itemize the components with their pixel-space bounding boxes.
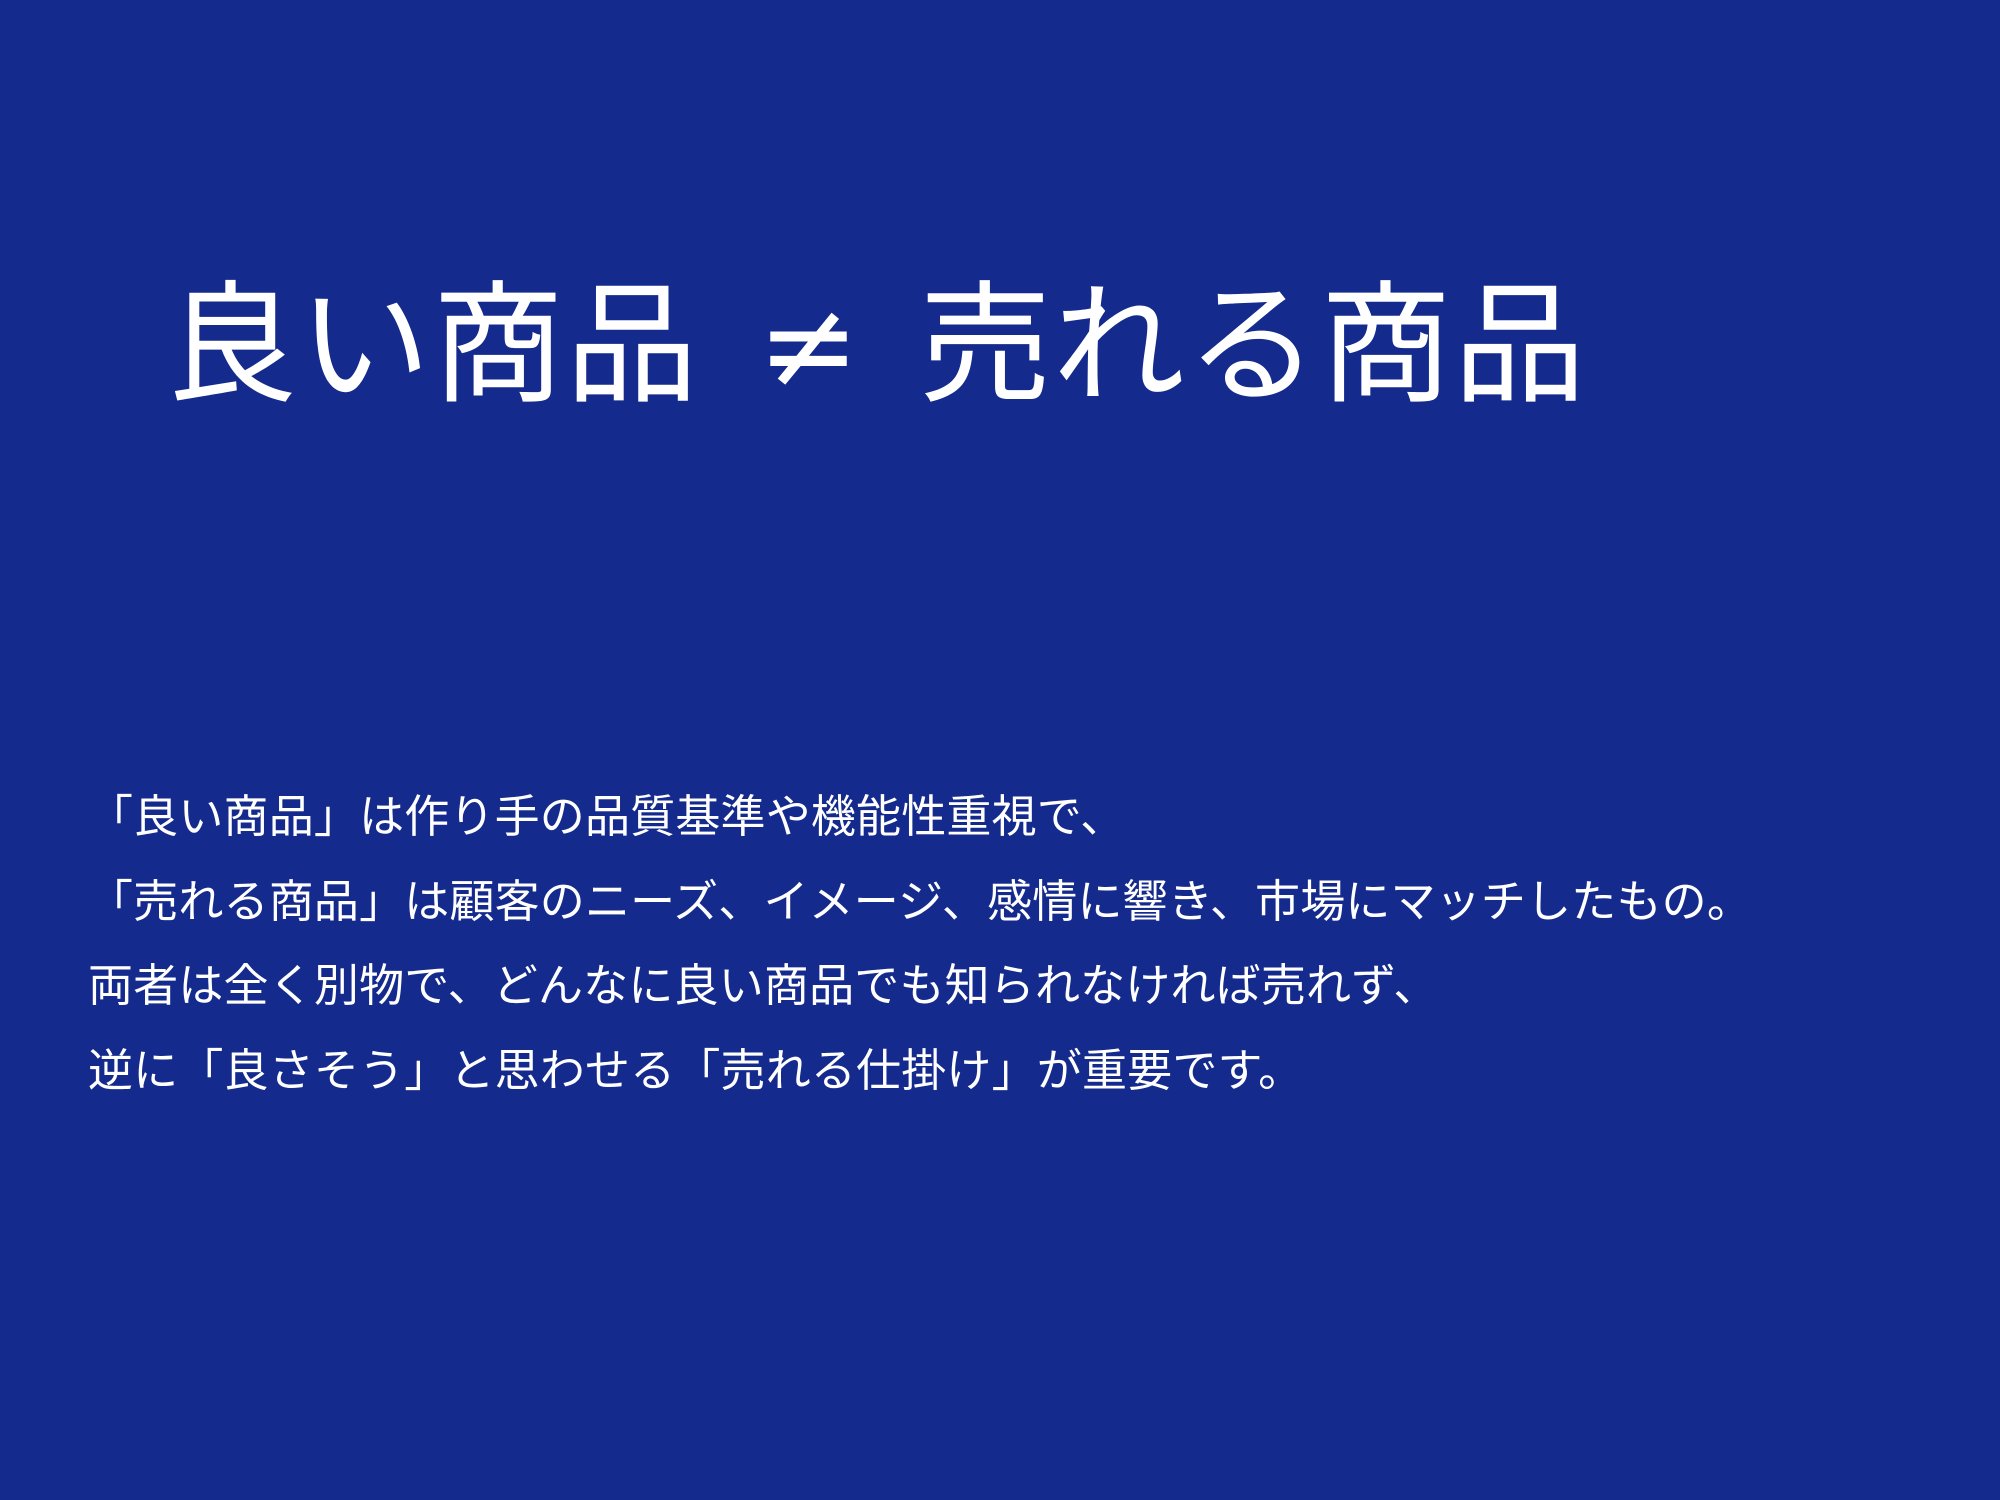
- body-line-2: 「売れる商品」は顧客のニーズ、イメージ、感情に響き、市場にマッチしたもの。: [88, 860, 1752, 945]
- slide-canvas: 良い商品 ≠ 売れる商品 「良い商品」は作り手の品質基準や機能性重視で、 「売れ…: [0, 0, 2000, 1500]
- headline-left-term: 良い商品: [165, 275, 699, 418]
- headline-right-term: 売れる商品: [919, 275, 1587, 418]
- not-equal-icon: ≠: [757, 280, 861, 412]
- body-line-4: 逆に「良さそう」と思わせる「売れる仕掛け」が重要です。: [88, 1029, 1752, 1114]
- body-line-3: 両者は全く別物で、どんなに良い商品でも知られなければ売れず、: [88, 944, 1752, 1029]
- slide-body-copy: 「良い商品」は作り手の品質基準や機能性重視で、 「売れる商品」は顧客のニーズ、イ…: [88, 775, 1752, 1113]
- slide-headline: 良い商品 ≠ 売れる商品: [165, 275, 1587, 418]
- body-line-1: 「良い商品」は作り手の品質基準や機能性重視で、: [88, 775, 1752, 860]
